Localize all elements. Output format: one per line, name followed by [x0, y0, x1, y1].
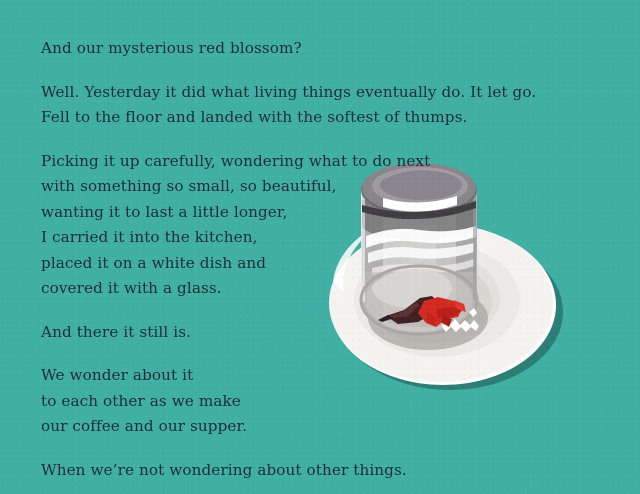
poem-line: our coffee and our supper. — [41, 414, 586, 440]
poem-line: with something so small, so beautiful, — [41, 174, 586, 200]
poem-line: We wonder about it — [41, 363, 586, 389]
stanza-6: When we’re not wondering about other thi… — [41, 458, 586, 484]
stanza-5: We wonder about it to each other as we m… — [41, 363, 586, 440]
stanza-1: And our mysterious red blossom? — [41, 36, 586, 62]
poem-line: covered it with a glass. — [41, 276, 586, 302]
poem-line: Picking it up carefully, wondering what … — [41, 149, 586, 175]
poem-line: Fell to the floor and landed with the so… — [41, 105, 586, 131]
poem-line: Well. Yesterday it did what living thing… — [41, 80, 586, 106]
poem-text: And our mysterious red blossom? Well. Ye… — [41, 36, 586, 483]
poem-line: wanting it to last a little longer, — [41, 200, 586, 226]
poem-line: And our mysterious red blossom? — [41, 36, 586, 62]
stanza-4: And there it still is. — [41, 320, 586, 346]
poem-line: to each other as we make — [41, 389, 586, 415]
poem-illustration-page: And our mysterious red blossom? Well. Ye… — [0, 0, 640, 494]
poem-line: placed it on a white dish and — [41, 251, 586, 277]
stanza-3: Picking it up carefully, wondering what … — [41, 149, 586, 302]
poem-line: I carried it into the kitchen, — [41, 225, 586, 251]
poem-line: And there it still is. — [41, 320, 586, 346]
stanza-2: Well. Yesterday it did what living thing… — [41, 80, 586, 131]
poem-line: When we’re not wondering about other thi… — [41, 458, 586, 484]
